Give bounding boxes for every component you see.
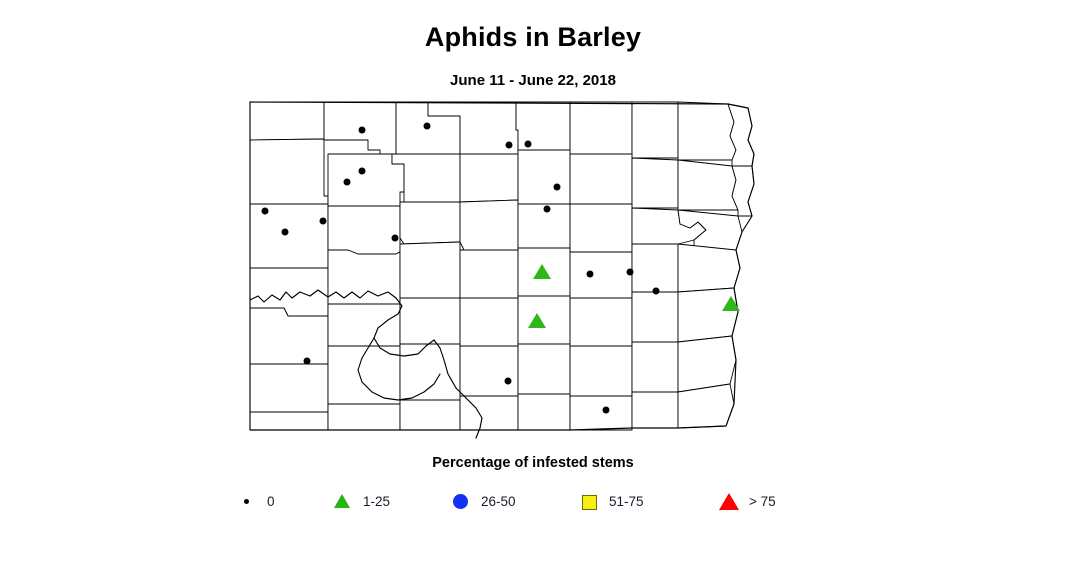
marker-dot-zero — [282, 229, 289, 236]
county-mclean — [400, 242, 460, 298]
legend-label: 0 — [267, 494, 275, 509]
county-divide — [250, 102, 324, 140]
county-rolette — [570, 102, 632, 154]
legend-label: 51-75 — [609, 494, 644, 509]
legend: 01-2526-5051-75> 75 — [228, 487, 828, 517]
legend-blue-circle-icon — [450, 490, 472, 512]
legend-red-triangle-icon-shape — [719, 493, 739, 510]
north-dakota-map[interactable] — [228, 92, 784, 440]
legend-dot-icon — [236, 490, 258, 512]
legend-title: Percentage of infested stems — [0, 455, 1066, 471]
marker-dot-zero — [554, 184, 561, 191]
county-emmons-n — [460, 346, 518, 396]
county-mountrail — [328, 206, 400, 254]
county-mchenry — [518, 150, 570, 204]
county-richland — [678, 384, 734, 428]
page-subtitle: June 11 - June 22, 2018 — [0, 72, 1066, 89]
county-stutsman — [570, 298, 632, 346]
map-page: Aphids in Barley June 11 - June 22, 2018 — [0, 0, 1066, 561]
legend-green-triangle-icon — [332, 490, 354, 512]
county-lamoure — [570, 346, 632, 396]
county-golden-valley — [250, 308, 328, 364]
marker-dot-zero — [587, 271, 594, 278]
county-ransom — [632, 342, 678, 392]
marker-triangle-1-25 — [533, 264, 551, 279]
legend-label: 1-25 — [363, 494, 390, 509]
county-ward — [460, 154, 518, 202]
page-title: Aphids in Barley — [0, 22, 1066, 53]
county-sheridan-n — [460, 200, 518, 250]
legend-item-75: > 75 — [718, 487, 776, 515]
county-eddy — [570, 204, 632, 252]
legend-dot-icon-shape — [244, 499, 249, 504]
marker-dot-zero — [627, 269, 634, 276]
county-oliver — [400, 298, 460, 344]
legend-green-triangle-icon-shape — [334, 494, 350, 508]
legend-item-26-50: 26-50 — [450, 487, 516, 515]
marker-dot-zero — [304, 358, 311, 365]
legend-item-0: 0 — [236, 487, 275, 515]
county-slope — [250, 364, 328, 412]
county-sargent — [632, 392, 678, 428]
county-burleigh — [460, 298, 518, 346]
county-burleigh-n — [460, 250, 518, 298]
county-dunn — [328, 304, 400, 346]
marker-dot-zero — [359, 127, 366, 134]
county-mclean-n — [400, 202, 460, 244]
county-williams — [250, 139, 328, 204]
marker-dot-zero — [424, 123, 431, 130]
legend-yellow-square-icon — [578, 490, 600, 512]
county-traill — [678, 244, 740, 292]
county-morton — [400, 344, 460, 400]
marker-dot-zero — [344, 179, 351, 186]
marker-dot-zero — [392, 235, 399, 242]
marker-dot-zero — [525, 141, 532, 148]
county-grant — [400, 400, 460, 430]
legend-label: 26-50 — [481, 494, 516, 509]
county-hettinger — [328, 404, 400, 430]
legend-item-51-75: 51-75 — [578, 487, 644, 515]
legend-yellow-square-icon-shape — [582, 495, 597, 510]
county-benson-n — [632, 158, 678, 208]
county-walsh — [678, 160, 738, 210]
county-logan — [518, 344, 570, 394]
marker-triangle-1-25 — [528, 313, 546, 328]
legend-label: > 75 — [749, 494, 776, 509]
marker-dot-zero — [603, 407, 610, 414]
county-mcintosh — [518, 394, 570, 430]
county-dickey — [570, 396, 632, 430]
marker-dot-zero — [544, 206, 551, 213]
marker-dot-zero — [262, 208, 269, 215]
county-boundaries — [250, 102, 754, 438]
county-griggs — [632, 244, 678, 292]
marker-dot-zero — [320, 218, 327, 225]
marker-dot-zero — [505, 378, 512, 385]
marker-dot-zero — [359, 168, 366, 175]
marker-triangle-1-25 — [722, 296, 740, 311]
county-towner — [632, 102, 678, 158]
county-richland-n — [678, 336, 736, 392]
county-dunn-n — [328, 250, 400, 304]
legend-item-1-25: 1-25 — [332, 487, 390, 515]
marker-dot-zero — [506, 142, 513, 149]
legend-blue-circle-icon-shape — [453, 494, 468, 509]
marker-dot-zero — [653, 288, 660, 295]
county-stutsman-n — [570, 252, 632, 298]
legend-red-triangle-icon — [718, 490, 740, 512]
county-pierce — [570, 154, 632, 204]
county-bowman — [250, 412, 328, 430]
county-barnes-n — [632, 292, 678, 342]
county-cavalier — [678, 102, 736, 160]
